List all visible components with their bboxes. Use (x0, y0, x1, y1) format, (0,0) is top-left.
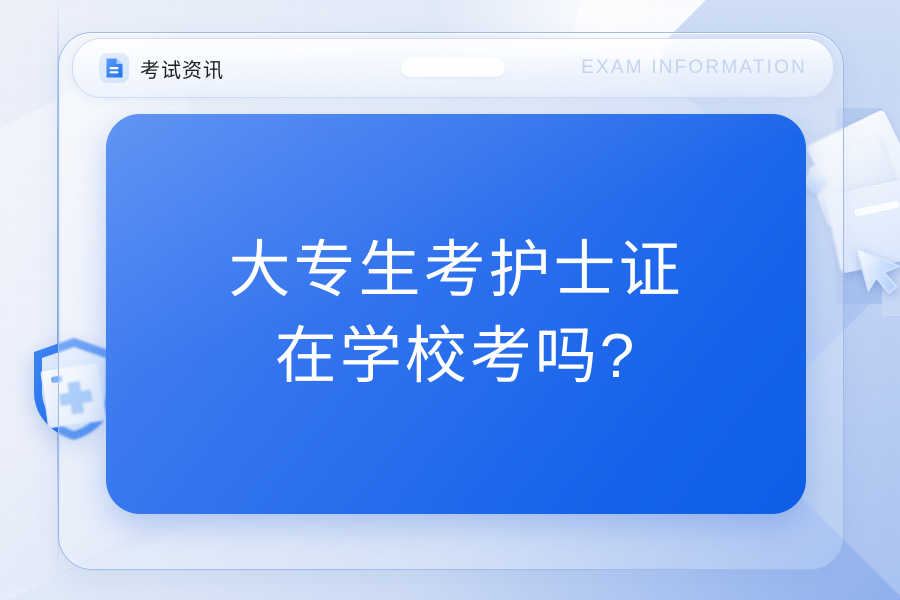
speaker-notch (401, 58, 505, 77)
header-english-title: EXAM INFORMATION (581, 57, 807, 79)
title-line-1: 大专生考护士证 (228, 228, 683, 314)
header-bar[interactable]: 考试资讯 EXAM INFORMATION (72, 38, 834, 98)
title-line-2: 在学校考吗? (275, 314, 637, 400)
main-title-card: 大专生考护士证 在学校考吗? (106, 114, 806, 514)
poster-canvas: 考试资讯 EXAM INFORMATION 大专生考护士证 在学校考吗? (0, 0, 900, 600)
header-title: 考试资讯 (140, 54, 224, 83)
document-icon (99, 53, 129, 83)
